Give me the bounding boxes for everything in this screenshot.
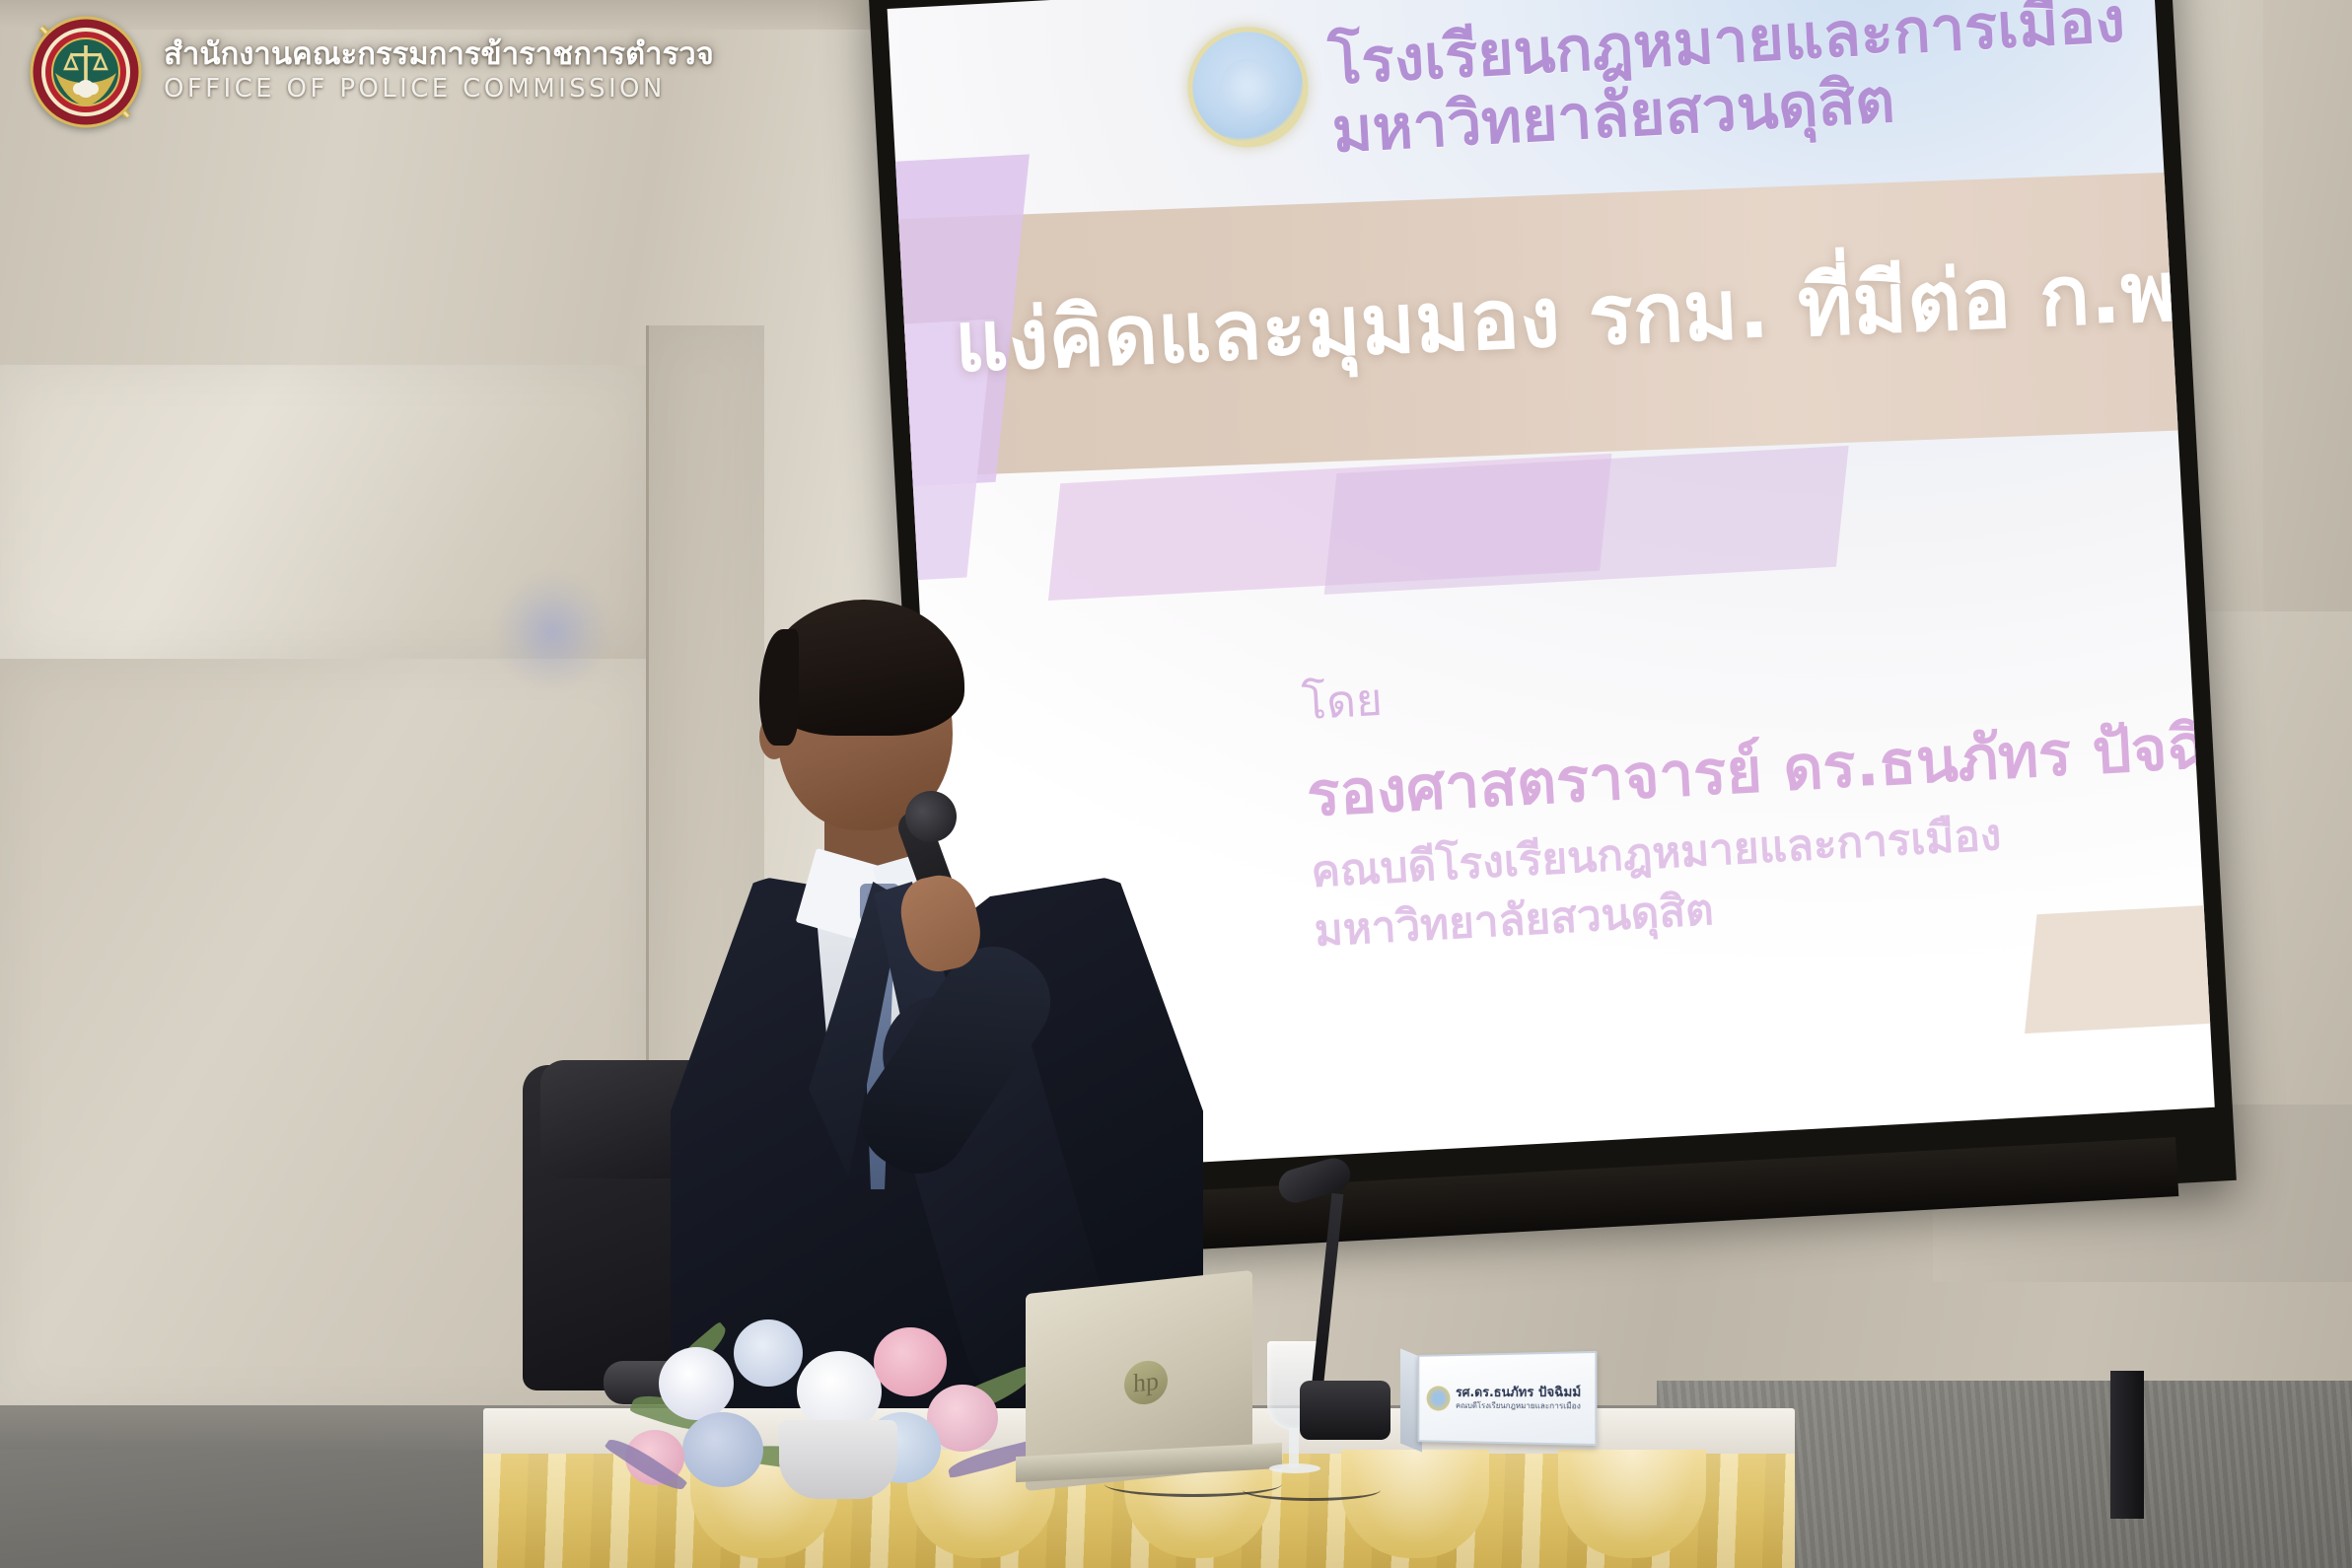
name-placard: รศ.ดร.ธนภัทร ปัจฉิมม์ คณบดีโรงเรียนกฎหมา…: [1418, 1351, 1598, 1446]
suan-dusit-university-seal-icon: [1184, 24, 1311, 150]
brand-text: สำนักงานคณะกรรมการข้าราชการตำรวจ OFFICE …: [164, 35, 714, 109]
bouquet-flower-blue: [682, 1412, 763, 1487]
desk-cable: [1243, 1479, 1381, 1501]
office-of-police-commission-seal-icon: [26, 12, 146, 132]
brand-thai-name: สำนักงานคณะกรรมการข้าราชการตำรวจ: [164, 35, 714, 74]
placard-name-line: รศ.ดร.ธนภัทร ปัจฉิมม์: [1456, 1385, 1581, 1401]
placard-seal-icon: [1427, 1386, 1451, 1410]
conference-photo-scene: โรงเรียนกฎหมายและการเมือง มหาวิทยาลัยสวน…: [0, 0, 2352, 1568]
bouquet-flower-pink: [874, 1327, 947, 1396]
presenter-sideburn: [759, 629, 799, 746]
office-chair-right-post: [2110, 1371, 2144, 1519]
table-microphone-base: [1300, 1381, 1390, 1440]
slide-organization: โรงเรียนกฎหมายและการเมือง มหาวิทยาลัยสวน…: [1326, 0, 2130, 166]
bouquet-flower-white: [659, 1347, 734, 1420]
brand-english-name: OFFICE OF POLICE COMMISSION: [164, 74, 714, 104]
water-glass-stem: [1289, 1428, 1299, 1467]
slide-decor-corner: [2025, 902, 2215, 1033]
slide-by-label: โดย: [1300, 664, 1384, 740]
placard-text: รศ.ดร.ธนภัทร ปัจฉิมม์ คณบดีโรงเรียนกฎหมา…: [1456, 1385, 1581, 1411]
bouquet-flower-blue: [734, 1319, 803, 1387]
slide-header: โรงเรียนกฎหมายและการเมือง มหาวิทยาลัยสวน…: [1184, 0, 2127, 173]
flower-vase: [779, 1420, 897, 1499]
wall-light-reflection: [493, 572, 611, 690]
water-glass-foot: [1269, 1463, 1320, 1473]
placard-subtitle-line: คณบดีโรงเรียนกฎหมายและการเมือง: [1456, 1401, 1581, 1412]
brand-watermark: สำนักงานคณะกรรมการข้าราชการตำรวจ OFFICE …: [26, 12, 714, 132]
